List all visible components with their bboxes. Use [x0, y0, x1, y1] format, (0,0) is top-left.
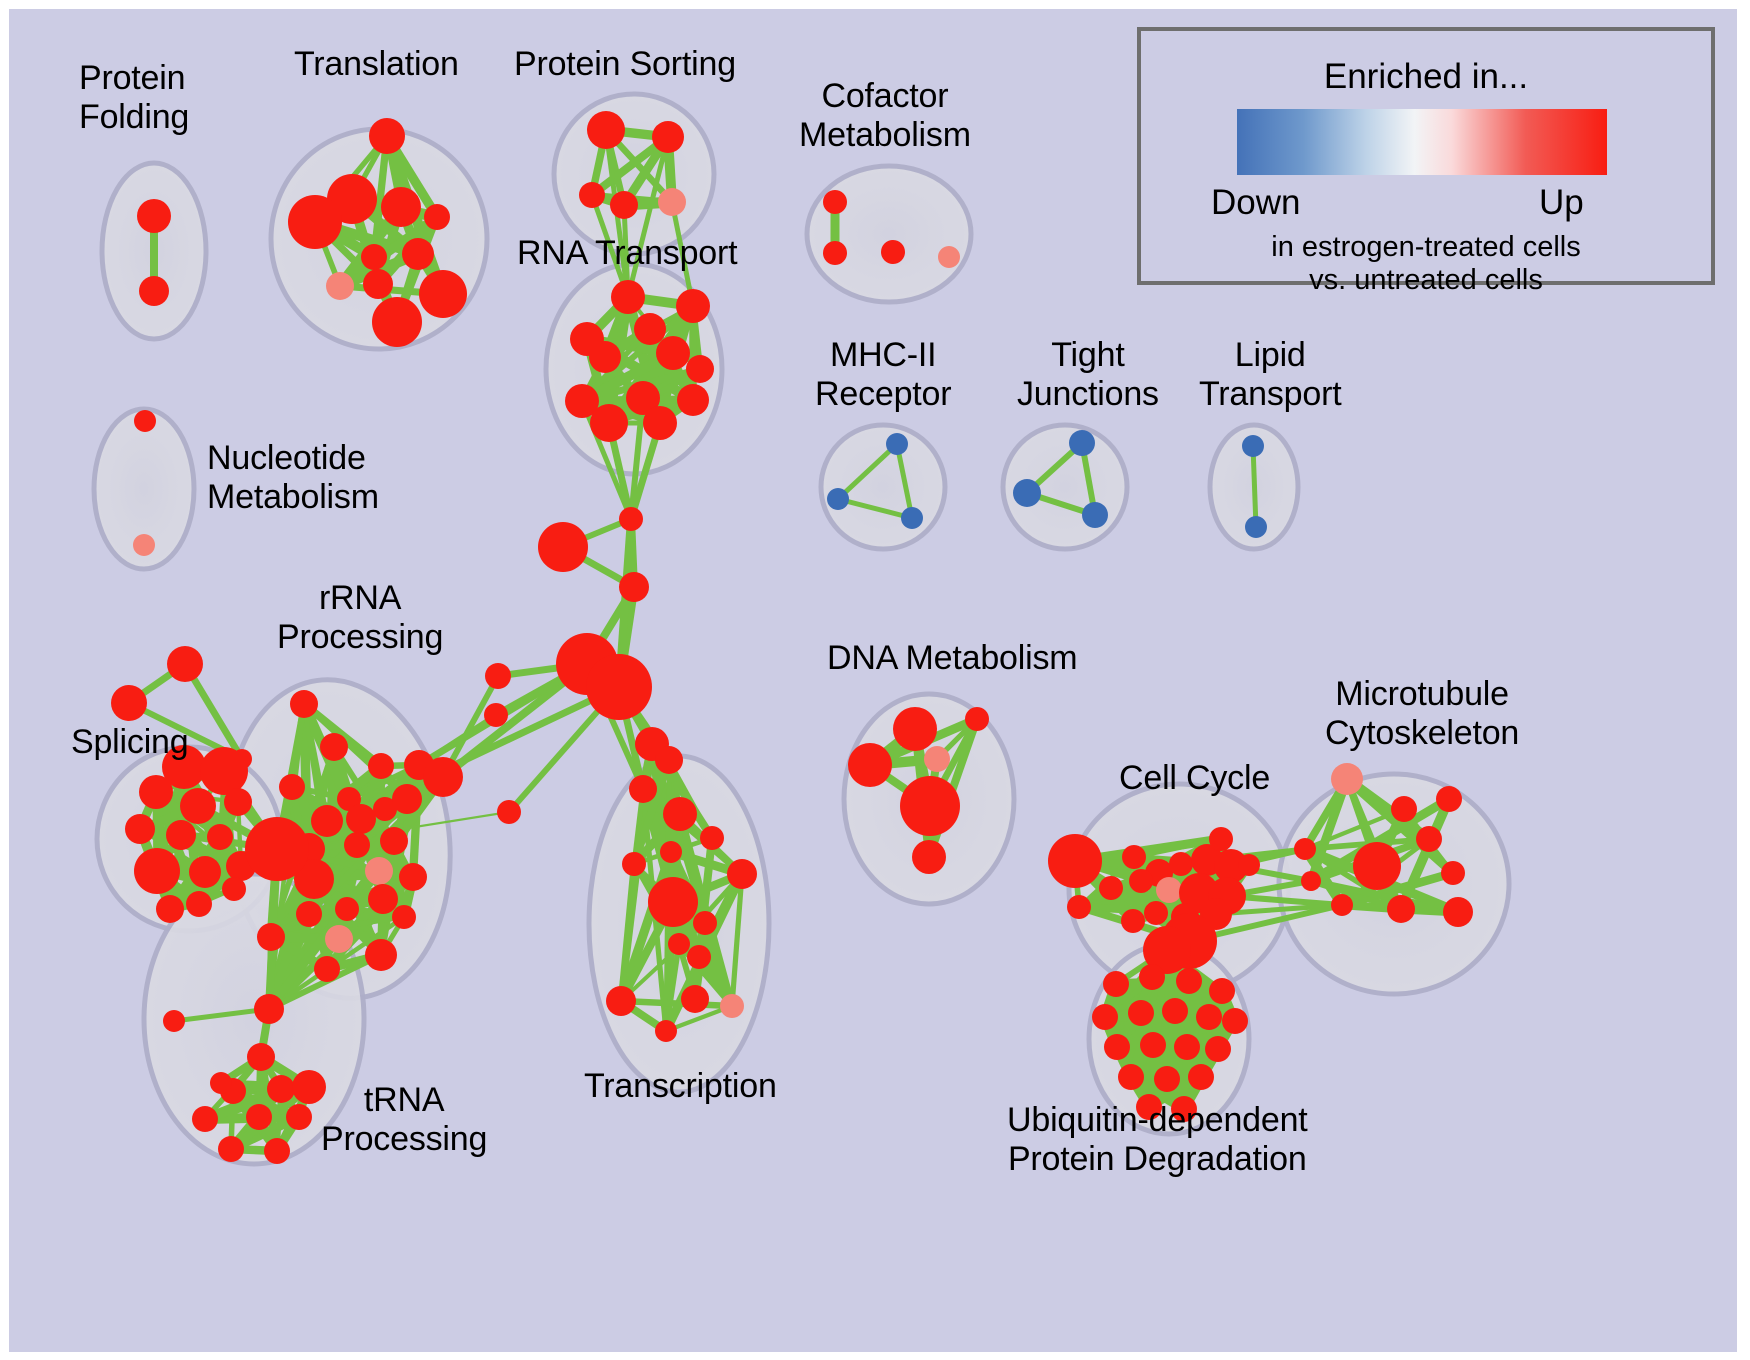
network-node[interactable]: [156, 895, 184, 923]
network-node[interactable]: [827, 488, 849, 510]
network-node[interactable]: [1103, 971, 1129, 997]
network-node[interactable]: [296, 901, 322, 927]
network-node[interactable]: [1092, 1004, 1118, 1030]
network-node[interactable]: [1205, 1036, 1231, 1062]
network-node[interactable]: [254, 994, 284, 1024]
network-diagram: ProteinFolding Translation Protein Sorti…: [9, 9, 1737, 1352]
network-node[interactable]: [965, 707, 989, 731]
network-node[interactable]: [286, 1104, 312, 1130]
network-node[interactable]: [663, 797, 697, 831]
network-node[interactable]: [900, 776, 960, 836]
network-node[interactable]: [848, 743, 892, 787]
network-node[interactable]: [399, 863, 427, 891]
network-node[interactable]: [579, 182, 605, 208]
network-node[interactable]: [1331, 763, 1363, 795]
network-node[interactable]: [893, 707, 937, 751]
network-node[interactable]: [1196, 1004, 1222, 1030]
network-node[interactable]: [1441, 861, 1465, 885]
network-node[interactable]: [368, 884, 398, 914]
network-node[interactable]: [134, 410, 156, 432]
network-node[interactable]: [1301, 871, 1321, 891]
network-node[interactable]: [658, 188, 686, 216]
network-node[interactable]: [288, 195, 342, 249]
network-node[interactable]: [189, 856, 221, 888]
network-node[interactable]: [137, 199, 171, 233]
network-node[interactable]: [365, 939, 397, 971]
network-node[interactable]: [1416, 826, 1442, 852]
network-node[interactable]: [424, 204, 450, 230]
network-node[interactable]: [186, 891, 212, 917]
network-node[interactable]: [912, 840, 946, 874]
network-node[interactable]: [886, 433, 908, 455]
network-node[interactable]: [1294, 838, 1316, 860]
network-node[interactable]: [901, 507, 923, 529]
network-node[interactable]: [1162, 998, 1188, 1024]
network-node[interactable]: [402, 238, 434, 270]
network-node[interactable]: [279, 774, 305, 800]
network-node[interactable]: [643, 406, 677, 440]
network-node[interactable]: [485, 663, 511, 689]
network-node[interactable]: [325, 925, 353, 953]
network-node[interactable]: [314, 956, 340, 982]
network-node[interactable]: [1140, 1032, 1166, 1058]
network-node[interactable]: [1174, 1034, 1200, 1060]
network-node[interactable]: [823, 190, 847, 214]
network-node[interactable]: [652, 121, 684, 153]
network-node[interactable]: [587, 111, 625, 149]
network-node[interactable]: [497, 800, 521, 824]
network-node[interactable]: [139, 775, 173, 809]
network-node[interactable]: [1238, 854, 1260, 876]
network-edge: [1253, 446, 1256, 527]
network-node[interactable]: [924, 746, 950, 772]
network-node[interactable]: [264, 1138, 290, 1164]
network-node[interactable]: [392, 784, 422, 814]
network-node[interactable]: [1245, 516, 1267, 538]
network-node[interactable]: [335, 897, 359, 921]
network-node[interactable]: [720, 994, 744, 1018]
network-node[interactable]: [1209, 827, 1233, 851]
network-node[interactable]: [207, 824, 233, 850]
network-node[interactable]: [589, 341, 621, 373]
network-node[interactable]: [166, 820, 196, 850]
network-node[interactable]: [200, 747, 248, 795]
legend-down-label: Down: [1211, 183, 1300, 223]
network-node[interactable]: [1171, 1096, 1197, 1122]
network-node[interactable]: [660, 841, 682, 863]
legend-color-bar: [1237, 109, 1607, 175]
network-node[interactable]: [361, 244, 387, 270]
network-node[interactable]: [619, 507, 643, 531]
network-node[interactable]: [346, 804, 376, 834]
network-node[interactable]: [1443, 897, 1473, 927]
network-node[interactable]: [727, 859, 757, 889]
network-node[interactable]: [218, 1136, 244, 1162]
network-node[interactable]: [619, 572, 649, 602]
network-node[interactable]: [1121, 909, 1145, 933]
network-node[interactable]: [311, 805, 343, 837]
network-node[interactable]: [687, 945, 711, 969]
network-node[interactable]: [1013, 479, 1041, 507]
network-node[interactable]: [1048, 834, 1102, 888]
legend-subtitle-line2: vs. untreated cells: [1141, 264, 1711, 297]
network-node[interactable]: [610, 191, 638, 219]
network-node[interactable]: [392, 905, 416, 929]
network-node[interactable]: [1222, 1008, 1248, 1034]
network-node[interactable]: [668, 933, 690, 955]
network-node[interactable]: [133, 534, 155, 556]
network-node[interactable]: [290, 690, 318, 718]
network-node[interactable]: [1387, 895, 1415, 923]
network-node[interactable]: [1353, 842, 1401, 890]
network-node[interactable]: [656, 336, 690, 370]
network-node[interactable]: [655, 746, 683, 774]
network-node[interactable]: [1169, 852, 1193, 876]
network-node[interactable]: [881, 240, 905, 264]
network-node[interactable]: [700, 826, 724, 850]
network-node[interactable]: [180, 788, 216, 824]
network-node[interactable]: [634, 313, 666, 345]
network-node[interactable]: [1128, 1000, 1154, 1026]
network-node[interactable]: [1104, 1034, 1130, 1060]
network-node[interactable]: [1082, 502, 1108, 528]
network-node[interactable]: [246, 1104, 272, 1130]
network-node[interactable]: [363, 269, 393, 299]
network-node[interactable]: [1136, 1094, 1162, 1120]
network-node[interactable]: [677, 384, 709, 416]
network-node[interactable]: [1154, 1066, 1180, 1092]
network-node[interactable]: [1331, 894, 1353, 916]
network-node[interactable]: [163, 1010, 185, 1032]
network-node[interactable]: [257, 923, 285, 951]
network-node[interactable]: [1118, 1064, 1144, 1090]
network-node[interactable]: [622, 852, 646, 876]
legend-box: Enriched in... Down Up in estrogen-treat…: [1137, 27, 1715, 285]
network-node[interactable]: [1139, 964, 1165, 990]
network-node[interactable]: [111, 685, 147, 721]
network-node[interactable]: [693, 911, 717, 935]
network-node[interactable]: [1069, 430, 1095, 456]
network-node[interactable]: [1067, 895, 1091, 919]
network-node[interactable]: [629, 775, 657, 803]
network-node[interactable]: [344, 832, 370, 858]
network-node[interactable]: [167, 646, 203, 682]
cluster-ellipse-mhc-ii-receptor: [821, 425, 945, 549]
network-node[interactable]: [1129, 869, 1153, 893]
network-node[interactable]: [365, 857, 393, 885]
network-node[interactable]: [538, 522, 588, 572]
network-node[interactable]: [267, 1075, 295, 1103]
network-node[interactable]: [676, 289, 710, 323]
network-node[interactable]: [1176, 968, 1202, 994]
network-node[interactable]: [192, 1106, 218, 1132]
network-node[interactable]: [1188, 1064, 1214, 1090]
network-node[interactable]: [484, 703, 508, 727]
network-node[interactable]: [606, 986, 636, 1016]
network-node[interactable]: [210, 1072, 232, 1094]
network-node[interactable]: [681, 985, 709, 1013]
network-node[interactable]: [372, 297, 422, 347]
legend-up-label: Up: [1539, 183, 1584, 223]
network-node[interactable]: [368, 753, 394, 779]
network-node[interactable]: [655, 1020, 677, 1042]
network-node[interactable]: [247, 1043, 275, 1071]
network-node[interactable]: [1099, 876, 1123, 900]
cluster-ellipse-protein-sorting: [554, 94, 714, 254]
network-node[interactable]: [1156, 877, 1182, 903]
network-node[interactable]: [1242, 435, 1264, 457]
network-node[interactable]: [586, 654, 652, 720]
network-node[interactable]: [381, 187, 421, 227]
network-node[interactable]: [938, 246, 960, 268]
network-node[interactable]: [419, 270, 467, 318]
network-node[interactable]: [1144, 901, 1168, 925]
network-node[interactable]: [380, 827, 408, 855]
legend-title: Enriched in...: [1141, 57, 1711, 97]
network-node[interactable]: [222, 877, 246, 901]
network-node[interactable]: [1122, 845, 1146, 869]
network-node[interactable]: [1436, 786, 1462, 812]
network-node[interactable]: [686, 355, 714, 383]
legend-subtitle-line1: in estrogen-treated cells: [1141, 231, 1711, 264]
network-node[interactable]: [1391, 796, 1417, 822]
network-node[interactable]: [423, 757, 463, 797]
network-node[interactable]: [134, 848, 180, 894]
network-node[interactable]: [125, 814, 155, 844]
network-node[interactable]: [326, 272, 354, 300]
network-node[interactable]: [292, 1070, 326, 1104]
network-node[interactable]: [369, 118, 405, 154]
network-node[interactable]: [611, 280, 645, 314]
figure-canvas: ProteinFolding Translation Protein Sorti…: [0, 0, 1750, 1360]
network-node[interactable]: [1209, 978, 1235, 1004]
network-node[interactable]: [823, 241, 847, 265]
network-node[interactable]: [224, 788, 252, 816]
network-node[interactable]: [590, 404, 628, 442]
network-node[interactable]: [648, 877, 698, 927]
network-node[interactable]: [139, 276, 169, 306]
network-node[interactable]: [320, 733, 348, 761]
network-node[interactable]: [245, 817, 309, 881]
